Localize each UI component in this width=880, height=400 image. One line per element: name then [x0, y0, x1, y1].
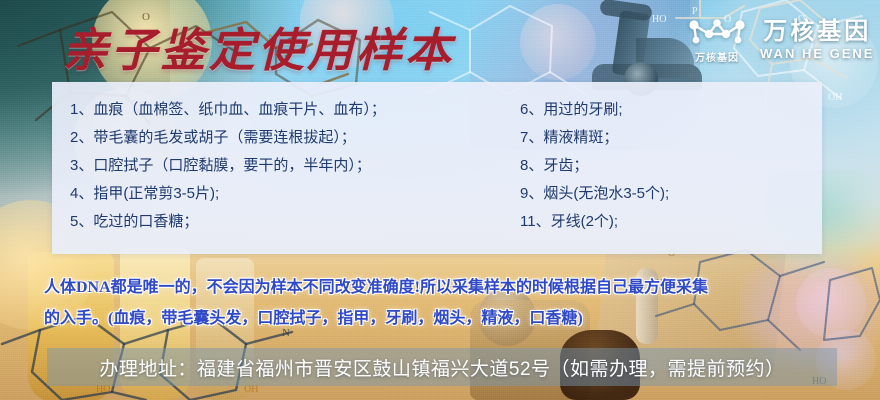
list-item: 6、用过的牙刷; — [520, 96, 820, 124]
sample-list-panel: 1、血痕（血棉签、纸巾血、血痕干片、血布）； 2、带毛囊的毛发或胡子（需要连根拔… — [52, 82, 822, 254]
list-item: 9、烟头(无泡水3-5个); — [520, 180, 820, 208]
molecule-node-icon: 万核基因 — [686, 16, 748, 64]
list-item: 3、口腔拭子（口腔黏膜，要干的，半年内）； — [70, 152, 500, 180]
poster-canvas: O HO OH N NH 2 HO P — [0, 0, 880, 400]
brand-mark-label: 万核基因 — [695, 49, 739, 64]
list-item: 8、牙齿； — [520, 152, 820, 180]
brand-logo: 万核基因 万核基因 WAN HE GENE — [686, 16, 874, 64]
note-paragraph: 人体DNA都是唯一的，不会因为样本不同改变准确度!所以采集样本的时候根据自己最方… — [44, 272, 844, 334]
list-item: 1、血痕（血棉签、纸巾血、血痕干片、血布）； — [70, 96, 500, 124]
page-title: 亲子鉴定使用样本 — [62, 14, 454, 80]
note-line-2: 的入手。(血痕，带毛囊头发，口腔拭子，指甲，牙刷，烟头，精液，口香糖) — [44, 303, 844, 334]
brand-name-en: WAN HE GENE — [760, 47, 874, 61]
list-item: 7、精液精斑； — [520, 124, 820, 152]
footer-address-bar: 办理地址：福建省福州市晋安区鼓山镇福兴大道52号（如需办理，需提前预约） — [47, 348, 837, 386]
list-item: 11、牙线(2个); — [520, 208, 820, 236]
list-item: 5、吃过的口香糖； — [70, 208, 500, 236]
list-item: 4、指甲(正常剪3-5片); — [70, 180, 500, 208]
brand-name-cn: 万核基因 — [763, 19, 871, 44]
list-item: 2、带毛囊的毛发或胡子（需要连根拔起）； — [70, 124, 500, 152]
sample-list-column-right: 6、用过的牙刷; 7、精液精斑； 8、牙齿； 9、烟头(无泡水3-5个); 11… — [500, 82, 820, 254]
sample-list-column-left: 1、血痕（血棉签、纸巾血、血痕干片、血布）； 2、带毛囊的毛发或胡子（需要连根拔… — [52, 82, 500, 254]
brand-wordmark: 万核基因 WAN HE GENE — [760, 19, 874, 60]
footer-address-text: 办理地址：福建省福州市晋安区鼓山镇福兴大道52号（如需办理，需提前预约） — [99, 354, 784, 381]
note-line-1: 人体DNA都是唯一的，不会因为样本不同改变准确度!所以采集样本的时候根据自己最方… — [44, 272, 844, 303]
